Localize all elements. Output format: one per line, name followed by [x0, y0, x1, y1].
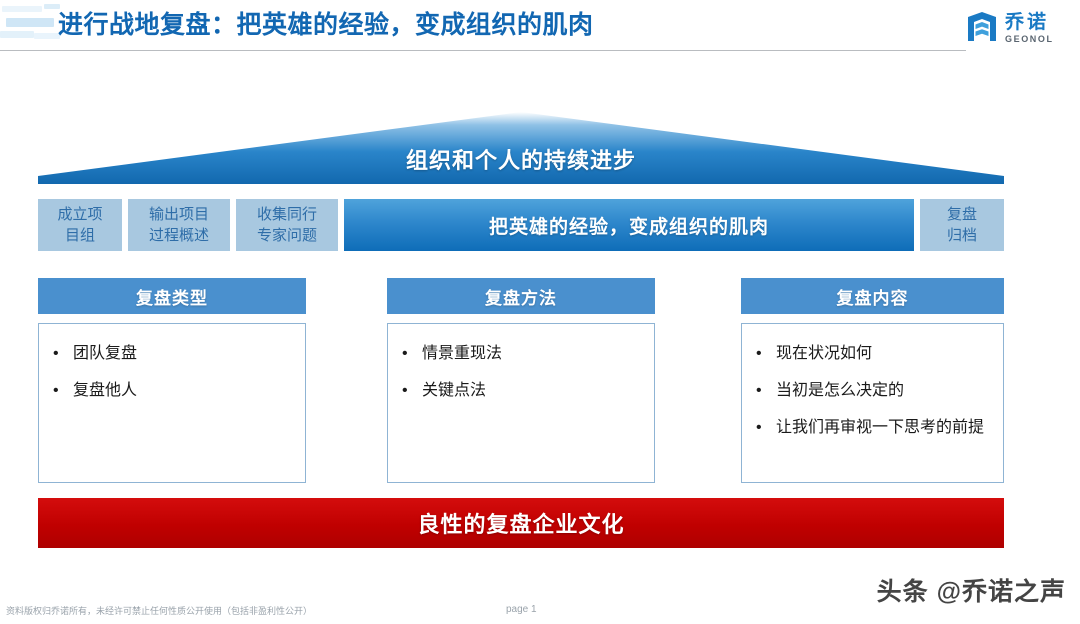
column-body-3: • 现在状况如何 • 当初是怎么决定的 • 让我们再审视一下思考的前提 [741, 323, 1004, 483]
slide-header: 进行战地复盘：把英雄的经验，变成组织的肌肉 乔诺 GEONOL [0, 0, 1080, 52]
header-decoration [0, 0, 62, 52]
bullet-dot-icon: • [756, 416, 776, 439]
step-box-2-line2: 过程概述 [149, 225, 209, 246]
decoration-bar [34, 33, 60, 39]
step-box-archive[interactable]: 复盘 归档 [920, 199, 1004, 251]
logo-text-cn: 乔诺 [1005, 13, 1054, 32]
step-box-2-line1: 输出项目 [149, 204, 209, 225]
geonol-house-logo-icon [964, 10, 1000, 46]
list-item-label: 当初是怎么决定的 [776, 379, 991, 402]
column-review-content: 复盘内容 • 现在状况如何 • 当初是怎么决定的 • 让我们再审视一下思考的前提 [741, 278, 1004, 488]
column-body-1: • 团队复盘 • 复盘他人 [38, 323, 306, 483]
column-review-method: 复盘方法 • 情景重现法 • 关键点法 [387, 278, 655, 488]
watermark: 头条 @乔诺之声 [877, 572, 1066, 608]
list-item: • 情景重现法 [402, 342, 642, 365]
step-box-archive-line2: 归档 [947, 225, 977, 246]
step-box-3-line2: 专家问题 [257, 225, 317, 246]
copyright-notice: 资料版权归乔诺所有，未经许可禁止任何性质公开使用（包括非盈利性公开） [6, 604, 312, 617]
list-item: • 现在状况如何 [756, 342, 991, 365]
brand-logo: 乔诺 GEONOL [964, 6, 1072, 50]
pyramid-banner: 组织和个人的持续进步 [38, 112, 1004, 184]
bullet-dot-icon: • [756, 379, 776, 402]
main-highlight-bar[interactable]: 把英雄的经验，变成组织的肌肉 [344, 199, 914, 251]
list-item: • 让我们再审视一下思考的前提 [756, 416, 991, 439]
column-header-3: 复盘内容 [741, 278, 1004, 314]
decoration-bar [0, 31, 34, 38]
step-box-2[interactable]: 输出项目 过程概述 [128, 199, 230, 251]
logo-text-en: GEONOL [1005, 35, 1054, 44]
column-header-2: 复盘方法 [387, 278, 655, 314]
list-item: • 关键点法 [402, 379, 642, 402]
bullet-dot-icon: • [53, 342, 73, 365]
bullet-dot-icon: • [402, 379, 422, 402]
page-title: 进行战地复盘：把英雄的经验，变成组织的肌肉 [58, 7, 594, 43]
column-header-1: 复盘类型 [38, 278, 306, 314]
list-item-label: 团队复盘 [73, 342, 293, 365]
decoration-bar [2, 6, 42, 12]
page-number: page 1 [506, 604, 537, 615]
column-body-2: • 情景重现法 • 关键点法 [387, 323, 655, 483]
header-divider [0, 50, 966, 51]
process-step-row: 成立项 目组 输出项目 过程概述 收集同行 专家问题 把英雄的经验，变成组织的肌… [38, 199, 1004, 251]
pyramid-label: 组织和个人的持续进步 [38, 143, 1004, 175]
step-box-3-line1: 收集同行 [257, 204, 317, 225]
list-item-label: 复盘他人 [73, 379, 293, 402]
step-box-3[interactable]: 收集同行 专家问题 [236, 199, 338, 251]
culture-banner: 良性的复盘企业文化 [38, 498, 1004, 548]
bullet-dot-icon: • [53, 379, 73, 402]
list-item-label: 现在状况如何 [776, 342, 991, 365]
slide-root: 进行战地复盘：把英雄的经验，变成组织的肌肉 乔诺 GEONOL [0, 0, 1080, 624]
main-highlight-bar-label: 把英雄的经验，变成组织的肌肉 [489, 212, 769, 239]
list-item-label: 情景重现法 [422, 342, 642, 365]
list-item: • 当初是怎么决定的 [756, 379, 991, 402]
list-item-label: 关键点法 [422, 379, 642, 402]
bullet-dot-icon: • [402, 342, 422, 365]
list-item: • 复盘他人 [53, 379, 293, 402]
three-column-section: 复盘类型 • 团队复盘 • 复盘他人 复盘方法 • 情景重现法 [38, 278, 1004, 488]
step-box-1-line1: 成立项 [57, 204, 102, 225]
logo-wordmark: 乔诺 GEONOL [1005, 13, 1054, 44]
list-item: • 团队复盘 [53, 342, 293, 365]
bullet-dot-icon: • [756, 342, 776, 365]
list-item-label: 让我们再审视一下思考的前提 [776, 416, 991, 439]
step-box-1-line2: 目组 [65, 225, 95, 246]
culture-banner-label: 良性的复盘企业文化 [417, 507, 624, 539]
decoration-bar [6, 18, 54, 27]
step-box-archive-line1: 复盘 [947, 204, 977, 225]
column-review-type: 复盘类型 • 团队复盘 • 复盘他人 [38, 278, 306, 488]
step-box-1[interactable]: 成立项 目组 [38, 199, 122, 251]
